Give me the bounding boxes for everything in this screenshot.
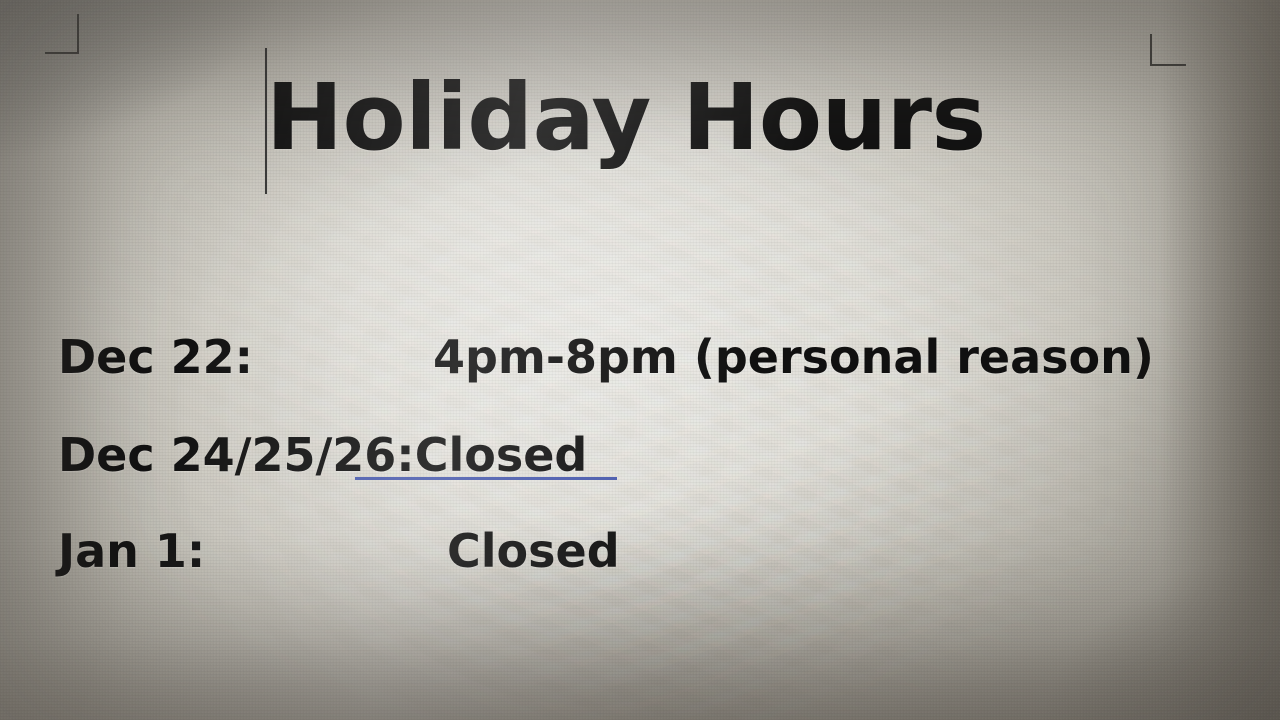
blue-underline bbox=[355, 477, 617, 480]
schedule-date-label: Jan 1: bbox=[58, 528, 447, 574]
document-title: Holiday Hours bbox=[266, 72, 986, 164]
schedule-hours-value: Closed bbox=[447, 528, 620, 574]
schedule-date-label: Dec 22: bbox=[58, 334, 433, 380]
schedule-hours-value: 4pm-8pm (personal reason) bbox=[433, 334, 1154, 380]
crop-mark-vertical bbox=[1150, 34, 1152, 66]
screen-photo: Holiday Hours Dec 22:4pm-8pm (personal r… bbox=[0, 0, 1280, 720]
crop-mark-horizontal bbox=[1150, 64, 1186, 66]
schedule-hours-value: Closed bbox=[415, 432, 588, 478]
document-content: Holiday Hours Dec 22:4pm-8pm (personal r… bbox=[0, 0, 1280, 720]
crop-mark-vertical bbox=[77, 14, 79, 54]
schedule-date-label: Dec 24/25/26: bbox=[58, 432, 415, 478]
schedule-row: Dec 24/25/26:Closed bbox=[58, 432, 587, 478]
crop-mark-top-left-icon bbox=[45, 14, 79, 54]
schedule-row: Jan 1:Closed bbox=[58, 528, 620, 574]
crop-mark-horizontal bbox=[45, 52, 79, 54]
schedule-row: Dec 22:4pm-8pm (personal reason) bbox=[58, 334, 1154, 380]
crop-mark-top-right-icon bbox=[1150, 34, 1186, 66]
